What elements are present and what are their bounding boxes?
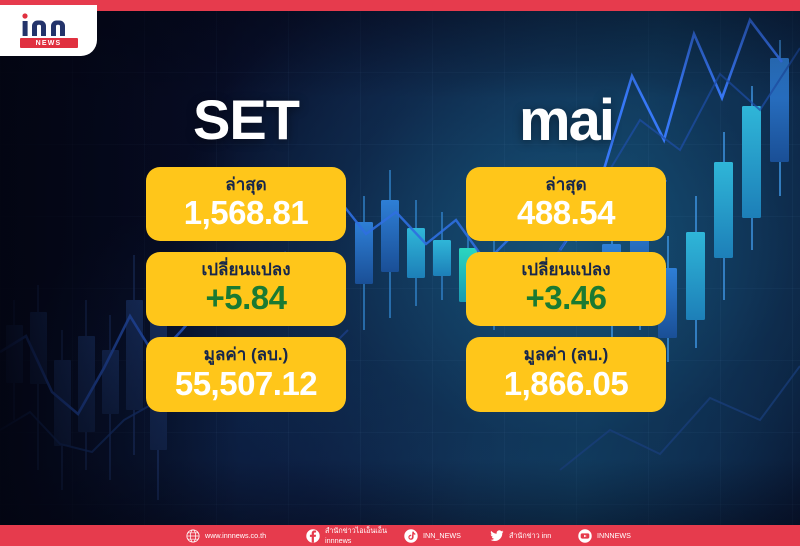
footer-youtube[interactable]: INNNEWS	[578, 529, 631, 543]
mai-change-label: เปลี่ยนแปลง	[474, 259, 658, 280]
mai-last-value: 488.54	[474, 195, 658, 232]
facebook-icon	[306, 529, 320, 543]
inn-logo-tagline: NEWS	[20, 38, 78, 48]
index-name-mai: mai	[466, 92, 666, 156]
mai-last-card: ล่าสุด 488.54	[466, 167, 666, 241]
footer-youtube-text: INNNEWS	[597, 531, 631, 540]
tiktok-icon	[404, 529, 418, 543]
set-change-value: +5.84	[154, 280, 338, 317]
set-last-value: 1,568.81	[154, 195, 338, 232]
mai-value-card: มูลค่า (ลบ.) 1,866.05	[466, 337, 666, 411]
mai-value-amount: 1,866.05	[474, 366, 658, 403]
footer-tiktok-text: INN_NEWS	[423, 531, 461, 540]
index-panel-mai: mai ล่าสุด 488.54 เปลี่ยนแปลง +3.46 มูลค…	[466, 92, 666, 412]
globe-icon	[186, 529, 200, 543]
footer-website[interactable]: www.innnews.co.th	[186, 529, 266, 543]
footer-facebook-line2: innnews	[325, 536, 387, 545]
inn-news-logo[interactable]: NEWS	[0, 5, 97, 56]
social-footer-bar: www.innnews.co.th สำนักข่าวไอเอ็นเอ็น in…	[0, 525, 800, 546]
footer-facebook-line1: สำนักข่าวไอเอ็นเอ็น	[325, 526, 387, 535]
index-panel-set: SET ล่าสุด 1,568.81 เปลี่ยนแปลง +5.84 มู…	[146, 92, 346, 412]
background-vignette	[0, 0, 800, 546]
poster-canvas: NEWS SET ล่าสุด 1,568.81 เปลี่ยนแปลง +5.…	[0, 0, 800, 546]
footer-facebook[interactable]: สำนักข่าวไอเอ็นเอ็น innnews	[306, 526, 387, 545]
top-red-bar	[0, 0, 800, 11]
set-last-label: ล่าสุด	[154, 174, 338, 195]
footer-twitter-text: สำนักข่าว inn	[509, 531, 551, 540]
set-change-card: เปลี่ยนแปลง +5.84	[146, 252, 346, 326]
footer-website-text: www.innnews.co.th	[205, 531, 266, 540]
footer-twitter[interactable]: สำนักข่าว inn	[490, 529, 551, 543]
twitter-icon	[490, 529, 504, 543]
set-value-label: มูลค่า (ลบ.)	[154, 344, 338, 365]
youtube-icon	[578, 529, 592, 543]
mai-change-card: เปลี่ยนแปลง +3.46	[466, 252, 666, 326]
mai-last-label: ล่าสุด	[474, 174, 658, 195]
set-value-amount: 55,507.12	[154, 366, 338, 403]
set-change-label: เปลี่ยนแปลง	[154, 259, 338, 280]
set-last-card: ล่าสุด 1,568.81	[146, 167, 346, 241]
set-value-card: มูลค่า (ลบ.) 55,507.12	[146, 337, 346, 411]
inn-wordmark-icon	[20, 13, 78, 36]
mai-change-value: +3.46	[474, 280, 658, 317]
mai-value-label: มูลค่า (ลบ.)	[474, 344, 658, 365]
footer-facebook-text: สำนักข่าวไอเอ็นเอ็น innnews	[325, 526, 387, 545]
index-name-set: SET	[146, 92, 346, 156]
footer-tiktok[interactable]: INN_NEWS	[404, 529, 461, 543]
